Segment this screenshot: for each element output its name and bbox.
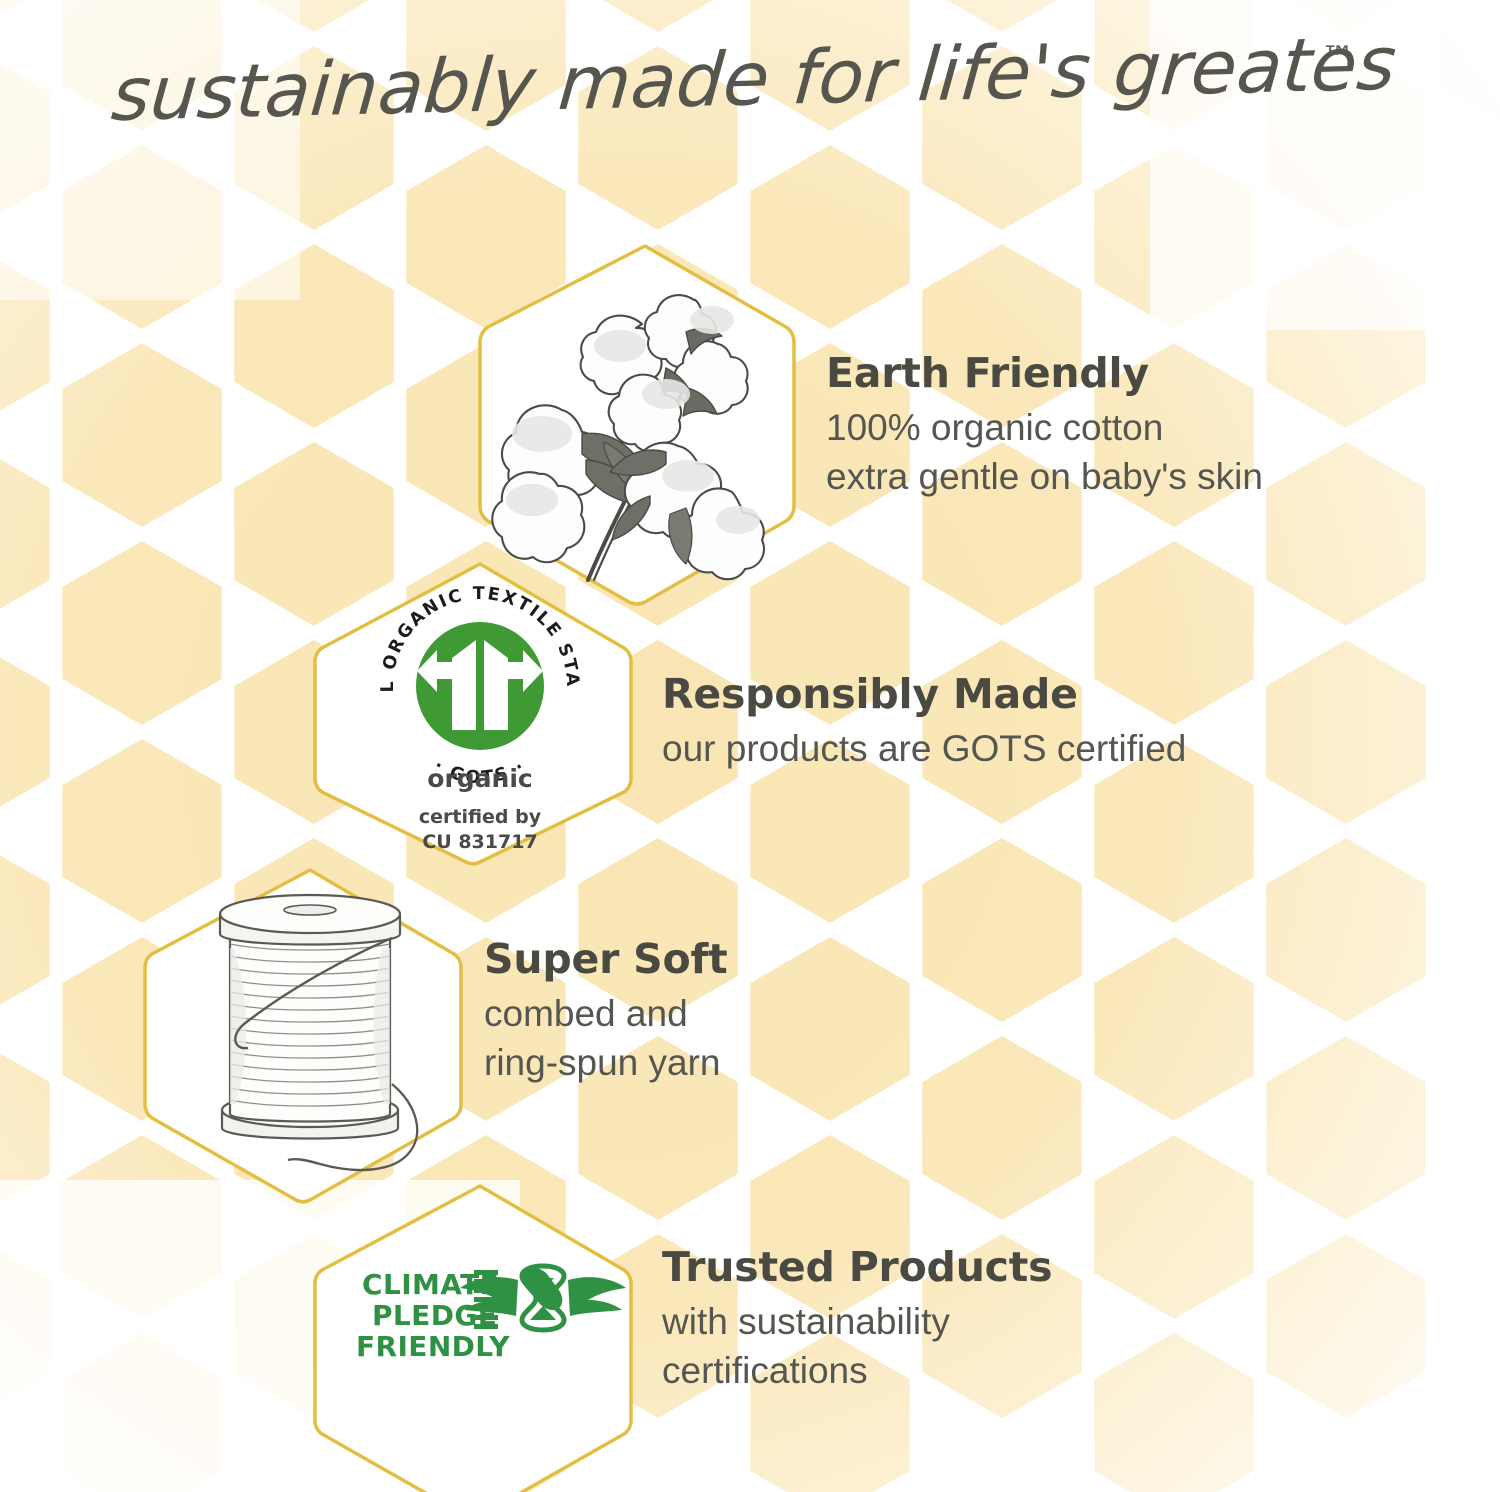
- trademark-symbol: ™: [1321, 39, 1355, 79]
- feature-line-1: combed and: [484, 990, 728, 1038]
- gots-certificate-id: CU 831717: [422, 831, 537, 853]
- feature-text-trusted-products: Trusted Products with sustainability cer…: [662, 1246, 1052, 1395]
- infographic-canvas: sustainably made for life's greatest joy…: [0, 0, 1500, 1492]
- feature-hex-responsibly-made: GLOBAL ORGANIC TEXTILE STANDARD · GOTS ·…: [300, 548, 660, 878]
- thread-spool-icon: [220, 895, 417, 1170]
- headline-text: sustainably made for life's greatest joy: [109, 34, 1395, 138]
- feature-line-2: ring-spun yarn: [484, 1039, 728, 1087]
- feature-hex-super-soft: [130, 852, 490, 1216]
- feature-line-2: certifications: [662, 1347, 1052, 1395]
- feature-line-2: extra gentle on baby's skin: [826, 453, 1263, 501]
- feature-text-responsibly-made: Responsibly Made our products are GOTS c…: [662, 673, 1186, 774]
- feature-title: Super Soft: [484, 938, 728, 981]
- feature-text-earth-friendly: Earth Friendly 100% organic cotton extra…: [826, 352, 1263, 501]
- feature-line-1: with sustainability: [662, 1298, 1052, 1346]
- feature-title: Earth Friendly: [826, 352, 1263, 395]
- feature-text-super-soft: Super Soft combed and ring-spun yarn: [484, 938, 728, 1087]
- feature-line-1: 100% organic cotton: [826, 404, 1263, 452]
- feature-title: Trusted Products: [662, 1246, 1052, 1289]
- feature-hex-trusted-products: CLIMATE PLEDGE FRIENDLY: [300, 1170, 660, 1492]
- gots-certified-by: certified by: [419, 806, 542, 828]
- climate-pledge-line-3: FRIENDLY: [356, 1330, 510, 1363]
- gots-label-organic: organic: [427, 764, 532, 793]
- feature-title: Responsibly Made: [662, 673, 1186, 716]
- feature-line-1: our products are GOTS certified: [662, 725, 1186, 773]
- headline-tagline: sustainably made for life's greatest joy…: [0, 34, 1500, 164]
